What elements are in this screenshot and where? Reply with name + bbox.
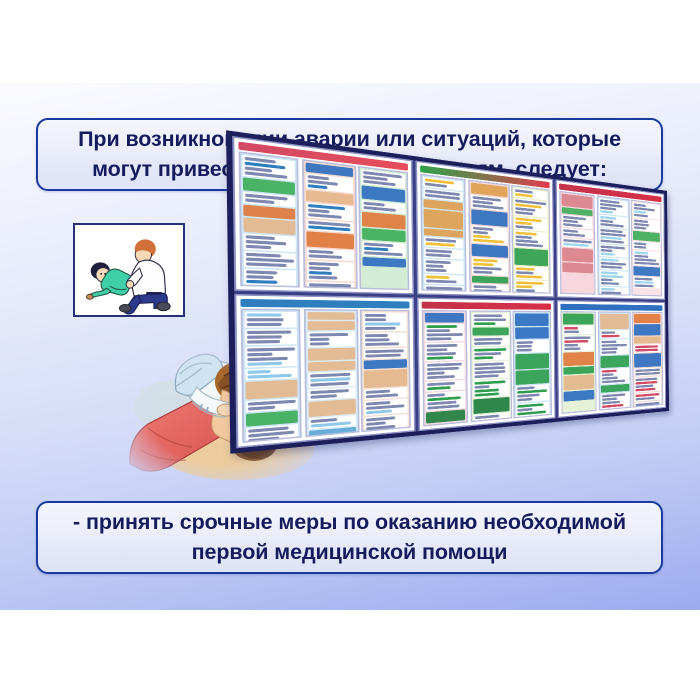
poster-text-block: [600, 392, 629, 409]
poster-text-line: [516, 243, 544, 247]
poster-panel-title-bar: [422, 301, 551, 309]
poster-panel-body: [420, 174, 551, 294]
poster-text-line: [247, 331, 290, 335]
poster-figure-block: [515, 313, 549, 325]
poster-text-line: [517, 349, 532, 352]
poster-text-line: [309, 389, 348, 394]
poster-text-line: [635, 387, 655, 391]
poster-text-line: [248, 406, 276, 411]
poster-text-line: [364, 206, 396, 212]
poster-text-line: [247, 347, 294, 351]
poster-text-line: [307, 213, 342, 219]
poster-text-line: [635, 372, 659, 376]
poster-text-block: [245, 367, 297, 380]
poster-figure-block: [307, 347, 354, 360]
slide-canvas: При возникновении аварии или ситуаций, к…: [0, 83, 700, 610]
poster-content-cell: [360, 309, 411, 432]
poster-text-line: [516, 285, 533, 288]
poster-figure-block: [362, 257, 406, 268]
poster-figure-block: [515, 354, 549, 370]
poster-text-line: [246, 271, 276, 275]
poster-text-line: [308, 262, 339, 266]
poster-text-block: [516, 384, 550, 403]
poster-text-block: [246, 424, 298, 443]
poster-text-line: [246, 276, 272, 280]
poster-text-block: [307, 371, 354, 388]
poster-text-block: [598, 198, 627, 216]
poster-text-line: [246, 263, 287, 268]
poster-content-cell: [597, 311, 631, 410]
poster-text-line: [427, 375, 455, 379]
poster-text-line: [600, 288, 614, 291]
poster-text-block: [633, 218, 660, 232]
poster-text-line: [602, 404, 624, 408]
poster-text-line: [473, 337, 502, 340]
poster-content-cell: [631, 200, 663, 297]
poster-text-line: [245, 198, 274, 204]
poster-text-line: [516, 293, 538, 294]
poster-text-line: [516, 267, 534, 270]
poster-text-block: [563, 335, 594, 351]
poster-text-line: [473, 270, 492, 273]
poster-figure-block: [243, 218, 295, 236]
poster-text-line: [366, 394, 398, 399]
poster-figure-block: [307, 361, 354, 372]
poster-text-line: [426, 269, 446, 273]
poster-text-line: [247, 335, 282, 339]
poster-text-block: [244, 252, 296, 270]
poster-content-cell: [467, 179, 510, 292]
poster-text-block: [425, 362, 464, 381]
poster-text-line: [634, 246, 646, 249]
poster-text-block: [514, 230, 548, 249]
poster-text-line: [426, 287, 462, 291]
poster-figure-block: [307, 321, 354, 330]
poster-text-block: [364, 415, 407, 433]
poster-panel-body: [241, 308, 411, 443]
poster-text-line: [472, 239, 504, 244]
poster-text-block: [363, 312, 407, 331]
poster-content-cell: [358, 166, 409, 290]
poster-text-line: [563, 243, 588, 247]
poster-text-line: [600, 210, 613, 214]
poster-text-line: [309, 394, 337, 399]
poster-text-block: [424, 259, 463, 274]
first-aid-poster-set: Комплект плакатов по оказанию первой мед…: [352, 201, 672, 461]
poster-text-block: [305, 219, 353, 233]
poster-text-line: [308, 267, 329, 271]
poster-text-line: [601, 369, 616, 372]
poster-text-line: [600, 282, 618, 285]
poster-text-block: [514, 216, 548, 232]
poster-text-line: [427, 367, 459, 371]
poster-text-line: [601, 331, 615, 334]
poster-text-block: [424, 285, 463, 292]
poster-panel-body: [560, 311, 663, 414]
poster-figure-block: [634, 336, 661, 343]
poster-text-line: [564, 336, 590, 339]
poster-text-block: [363, 332, 407, 347]
poster-figure-block: [562, 248, 593, 262]
poster-text-block: [472, 313, 508, 326]
poster-text-line: [517, 393, 539, 397]
poster-text-line: [600, 239, 624, 243]
poster-text-line: [427, 334, 463, 337]
poster-text-block: [599, 215, 628, 229]
poster-content-cell: [560, 311, 596, 414]
poster-content-cell: [239, 151, 300, 288]
poster-figure-block: [471, 209, 507, 227]
poster-text-line: [517, 346, 532, 349]
poster-figure-block: [633, 266, 660, 276]
poster-text-line: [426, 276, 450, 280]
poster-text-line: [517, 342, 533, 345]
poster-figure-block: [563, 366, 594, 374]
poster-text-line: [365, 354, 400, 358]
poster-text-line: [516, 289, 534, 292]
poster-text-line: [634, 281, 652, 284]
poster-text-line: [474, 366, 506, 370]
poster-content-cell: [303, 309, 359, 438]
bottom-statement-banner: - принять срочные меры по оказанию необх…: [36, 501, 663, 574]
poster-text-block: [514, 198, 548, 218]
poster-text-block: [471, 226, 507, 246]
poster-text-line: [474, 352, 501, 355]
poster-text-block: [244, 234, 296, 253]
poster-text-line: [365, 349, 403, 353]
poster-text-block: [244, 269, 296, 288]
poster-text-block: [308, 387, 355, 400]
poster-figure-block: [600, 314, 629, 329]
poster-text-block: [426, 380, 465, 392]
poster-text-block: [515, 340, 549, 353]
poster-content-cell: [241, 308, 302, 443]
poster-text-line: [634, 226, 646, 229]
poster-text-line: [473, 262, 494, 266]
poster-figure-block: [563, 314, 594, 325]
poster-text-line: [473, 289, 502, 292]
poster-text-line: [247, 318, 283, 321]
poster-text-block: [424, 248, 463, 260]
poster-text-line: [600, 291, 621, 294]
poster-text-line: [427, 357, 453, 361]
poster-text-line: [516, 271, 534, 274]
poster-figure-block: [515, 327, 549, 340]
poster-text-block: [424, 274, 463, 285]
poster-text-line: [366, 426, 395, 431]
poster-text-block: [472, 378, 508, 397]
poster-text-line: [427, 338, 452, 341]
poster-text-block: [600, 330, 629, 339]
poster-panel-body: [559, 191, 662, 297]
poster-text-line: [248, 442, 272, 443]
poster-panel-title-bar: [240, 298, 409, 308]
poster-figure-block: [634, 352, 661, 367]
poster-text-line: [247, 370, 271, 374]
assist-illustration-graphic: [75, 225, 183, 315]
poster-figure-block: [634, 314, 661, 323]
poster-text-line: [427, 405, 459, 410]
poster-text-line: [309, 333, 348, 336]
poster-figure-block: [564, 390, 595, 402]
poster-text-block: [245, 312, 297, 328]
poster-text-line: [634, 262, 658, 266]
poster-text-block: [599, 244, 628, 258]
poster-text-line: [474, 380, 506, 384]
poster-text-line: [473, 348, 506, 351]
poster-panel: [234, 294, 415, 448]
poster-text-line: [600, 265, 621, 268]
poster-text-block: [424, 237, 463, 249]
poster-text-line: [248, 437, 278, 443]
poster-text-line: [473, 322, 495, 325]
poster-figure-block: [364, 359, 407, 370]
poster-text-block: [425, 343, 464, 362]
poster-text-block: [364, 348, 407, 359]
poster-text-line: [515, 193, 533, 198]
poster-text-block: [600, 368, 629, 385]
poster-text-line: [247, 323, 281, 326]
poster-text-line: [564, 347, 580, 350]
poster-text-block: [306, 282, 354, 289]
poster-text-line: [364, 251, 402, 256]
poster-text-line: [636, 405, 653, 407]
poster-text-line: [516, 281, 543, 284]
poster-text-line: [601, 376, 618, 379]
poster-text-line: [517, 398, 532, 402]
poster-panel: [557, 300, 666, 418]
poster-text-line: [516, 275, 542, 279]
poster-text-line: [601, 340, 617, 343]
poster-text-block: [634, 367, 661, 376]
poster-text-block: [634, 376, 661, 392]
poster-text-line: [564, 327, 577, 330]
poster-figure-block: [562, 262, 593, 274]
poster-text-block: [472, 360, 508, 379]
poster-text-line: [246, 280, 277, 284]
poster-text-line: [564, 344, 578, 347]
poster-text-line: [425, 242, 454, 247]
poster-text-line: [601, 351, 616, 354]
poster-content-cell: [512, 311, 552, 419]
poster-panel-body: [239, 151, 410, 290]
poster-figure-block: [516, 370, 550, 385]
poster-text-block: [599, 257, 628, 270]
poster-text-line: [474, 419, 492, 423]
poster-text-line: [426, 253, 451, 257]
poster-text-line: [427, 372, 445, 376]
poster-content-cell: [422, 310, 468, 427]
poster-text-line: [427, 352, 456, 356]
poster-figure-block: [471, 244, 507, 257]
poster-text-line: [473, 285, 496, 288]
poster-figure-block: [471, 275, 507, 283]
poster-content-cell: [301, 159, 357, 289]
poster-text-line: [247, 362, 281, 366]
poster-text-line: [563, 233, 585, 237]
poster-text-line: [473, 314, 502, 317]
poster-content-cell: [469, 310, 512, 422]
poster-text-line: [517, 414, 541, 418]
poster-text-line: [517, 389, 546, 393]
poster-text-line: [564, 340, 587, 343]
poster-text-line: [515, 211, 532, 215]
poster-text-line: [601, 379, 624, 383]
poster-text-block: [562, 215, 593, 230]
poster-text-line: [474, 356, 493, 359]
poster-text-line: [602, 410, 623, 411]
poster-text-line: [247, 357, 288, 361]
poster-figure-block: [634, 324, 661, 336]
poster-text-block: [515, 266, 549, 280]
poster-text-line: [308, 271, 332, 275]
poster-figure-block: [362, 212, 406, 230]
poster-figure-block: [364, 369, 408, 389]
poster-text-line: [635, 345, 658, 348]
poster-text-line: [365, 318, 386, 321]
poster-text-line: [365, 334, 388, 337]
poster-text-block: [306, 248, 354, 261]
poster-figure-block: [563, 352, 594, 367]
poster-text-line: [246, 285, 286, 288]
poster-figure-block: [473, 396, 509, 414]
poster-text-line: [364, 247, 388, 251]
poster-content-cell: [420, 174, 466, 292]
poster-text-block: [634, 344, 661, 353]
poster-text-line: [600, 278, 612, 281]
poster-text-line: [426, 280, 456, 284]
poster-text-block: [563, 325, 594, 334]
poster-content-cell: [511, 185, 551, 294]
poster-text-line: [427, 387, 451, 391]
poster-text-line: [601, 334, 620, 337]
poster-text-line: [426, 291, 461, 292]
poster-text-line: [308, 288, 345, 289]
poster-figure-block: [307, 312, 354, 320]
poster-figure-block: [246, 380, 298, 400]
poster-text-block: [515, 280, 549, 294]
poster-text-block: [364, 399, 407, 416]
poster-text-line: [365, 323, 400, 326]
poster-text-line: [474, 374, 499, 378]
poster-text-block: [472, 346, 508, 360]
poster-text-block: [633, 202, 660, 220]
poster-text-line: [308, 250, 333, 254]
poster-text-line: [474, 388, 498, 392]
poster-text-line: [600, 252, 614, 255]
poster-text-line: [474, 385, 489, 389]
poster-text-block: [599, 228, 628, 246]
poster-text-line: [247, 374, 291, 379]
poster-panel: [415, 160, 554, 297]
poster-content-cell: [596, 195, 630, 295]
poster-figure-block: [425, 313, 464, 323]
poster-text-block: [306, 261, 354, 282]
poster-text-line: [308, 255, 343, 260]
poster-text-line: [247, 353, 272, 357]
poster-text-block: [473, 412, 509, 422]
poster-panel: [417, 297, 556, 431]
poster-text-line: [600, 223, 624, 228]
poster-text-line: [426, 325, 457, 328]
poster-figure-block: [514, 248, 548, 266]
poster-text-line: [365, 314, 387, 317]
poster-text-block: [245, 329, 297, 345]
poster-text-line: [308, 284, 351, 288]
poster-text-line: [564, 330, 578, 333]
poster-text-line: [365, 338, 390, 341]
poster-text-block: [635, 400, 662, 407]
poster-text-line: [426, 264, 443, 268]
poster-text-line: [474, 370, 505, 374]
poster-text-line: [636, 396, 655, 400]
poster-panel-body: [422, 310, 552, 427]
poster-text-block: [600, 339, 629, 355]
poster-text-line: [515, 225, 533, 229]
poster-figure-block: [563, 374, 594, 391]
poster-text-line: [634, 214, 648, 218]
poster-text-block: [599, 270, 628, 286]
poster-panel-grid: [232, 136, 666, 448]
poster-text-line: [635, 284, 654, 287]
poster-text-line: [635, 381, 657, 385]
poster-text-line: [309, 342, 330, 345]
bottom-statement-text: - принять срочные меры по оказанию необх…: [38, 508, 661, 567]
poster-text-line: [246, 245, 272, 250]
poster-text-line: [365, 327, 396, 330]
poster-figure-block: [306, 231, 354, 250]
poster-figure-block: [600, 355, 629, 368]
poster-text-line: [473, 341, 500, 344]
first-aid-assist-cartoon: Человек помогает пострадавшему, лежащему…: [73, 223, 185, 317]
poster-text-block: [245, 346, 297, 368]
poster-text-line: [474, 392, 499, 396]
poster-text-block: [471, 284, 507, 293]
poster-text-line: [472, 258, 497, 262]
poster-figure-block: [424, 209, 463, 230]
poster-text-line: [427, 344, 458, 347]
poster-text-line: [601, 343, 627, 346]
poster-text-block: [471, 257, 507, 276]
poster-text-line: [427, 349, 447, 352]
poster-text-line: [308, 276, 338, 280]
poster-figure-block: [308, 399, 355, 417]
poster-text-block: [516, 401, 550, 418]
poster-text-line: [473, 318, 506, 321]
poster-text-line: [601, 373, 614, 376]
poster-content-cell: [632, 312, 664, 408]
poster-text-block: [633, 276, 660, 288]
poster-content-cell: [559, 191, 595, 295]
poster-figure-block: [362, 228, 406, 242]
poster-text-line: [473, 266, 502, 270]
poster-text-block: [426, 391, 465, 411]
poster-text-line: [247, 313, 281, 316]
poster-text-block: [633, 250, 660, 266]
poster-text-line: [309, 382, 348, 387]
poster-text-line: [247, 340, 281, 344]
poster-text-line: [365, 342, 398, 346]
poster-text-line: [426, 330, 450, 333]
poster-text-line: [366, 410, 392, 415]
poster-text-block: [599, 287, 628, 296]
poster-text-line: [563, 223, 583, 227]
poster-text-line: [635, 348, 658, 351]
poster-text-block: [305, 202, 353, 221]
poster-text-block: [307, 331, 354, 347]
poster-panel: [556, 179, 666, 300]
poster-text-line: [307, 184, 328, 189]
